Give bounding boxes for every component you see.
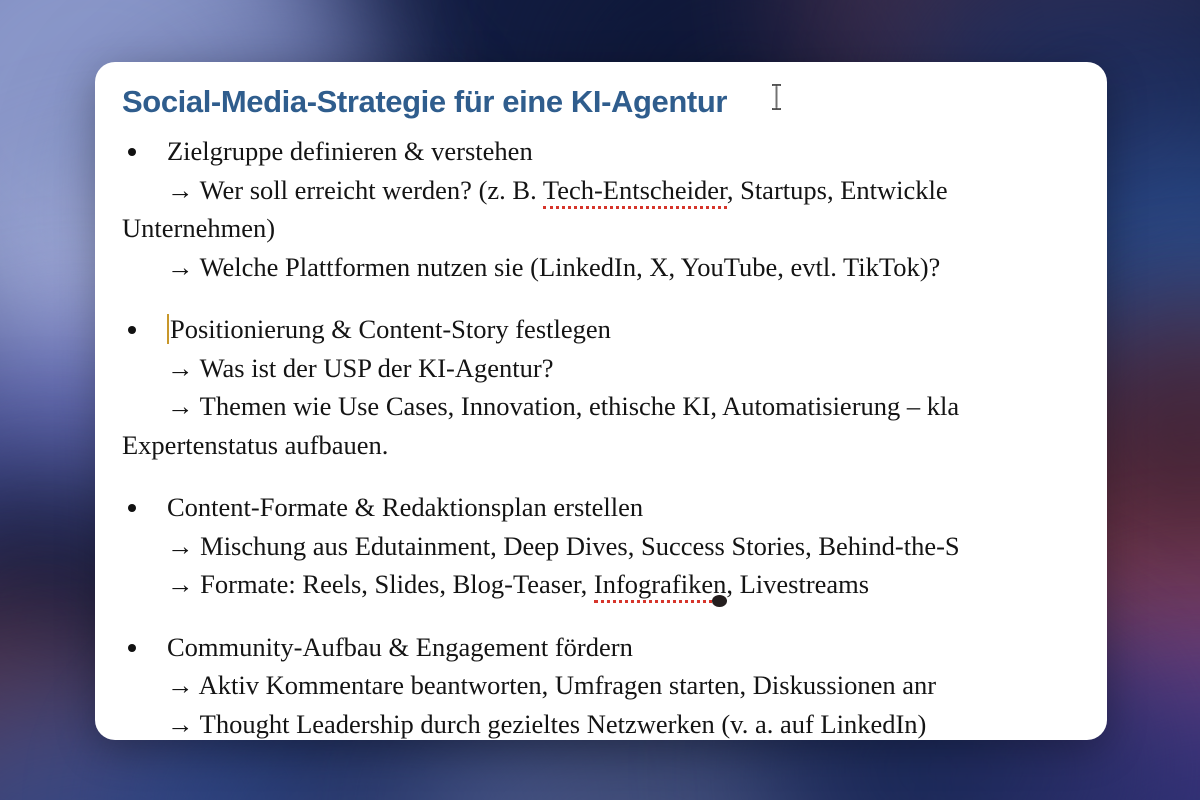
sub-line-text: , Livestreams bbox=[726, 569, 869, 599]
sub-line-text: → Mischung aus Edutainment, Deep Dives, … bbox=[167, 531, 960, 561]
misspelled-word[interactable]: Tech-Entscheider bbox=[543, 175, 727, 209]
sub-line-text: → Wer soll erreicht werden? (z. B. bbox=[167, 175, 543, 205]
bullet-heading-text: Positionierung & Content-Story festlegen bbox=[170, 314, 611, 344]
bullet-heading: Content-Formate & Redaktionsplan erstell… bbox=[167, 488, 1107, 527]
bullet-sub-line: → Themen wie Use Cases, Innovation, ethi… bbox=[167, 387, 1107, 426]
sub-line-text: , Startups, Entwickle bbox=[727, 175, 948, 205]
sub-line-text: → Formate: Reels, Slides, Blog-Teaser, bbox=[167, 569, 594, 599]
bullet-heading-text: Community-Aufbau & Engagement fördern bbox=[167, 632, 633, 662]
bullet-sub-line: → Welche Plattformen nutzen sie (LinkedI… bbox=[167, 248, 1107, 287]
bullet-item[interactable]: Positionierung & Content-Story festlegen… bbox=[122, 310, 1107, 464]
sub-line-text: → Aktiv Kommentare beantworten, Umfragen… bbox=[167, 670, 936, 700]
bullet-sub-line: → Aktiv Kommentare beantworten, Umfragen… bbox=[167, 666, 1107, 705]
sub-line-text: Unternehmen) bbox=[122, 213, 275, 243]
bullet-heading: Positionierung & Content-Story festlegen bbox=[167, 310, 1107, 349]
bullet-sub-line: Unternehmen) bbox=[122, 209, 1107, 248]
bullet-item[interactable]: Content-Formate & Redaktionsplan erstell… bbox=[122, 488, 1107, 604]
bullet-sub-line: → Thought Leadership durch gezieltes Net… bbox=[167, 705, 1107, 741]
sub-line-text: Expertenstatus aufbauen. bbox=[122, 430, 388, 460]
slide-title: Social-Media-Strategie für eine KI-Agent… bbox=[122, 84, 1107, 120]
bullet-item[interactable]: Community-Aufbau & Engagement fördern→ A… bbox=[122, 628, 1107, 741]
bullet-sub-line: → Formate: Reels, Slides, Blog-Teaser, I… bbox=[167, 565, 1107, 604]
sub-line-text: → Welche Plattformen nutzen sie (LinkedI… bbox=[167, 252, 940, 282]
slide-card[interactable]: Social-Media-Strategie für eine KI-Agent… bbox=[95, 62, 1107, 740]
bullet-sub-line: → Wer soll erreicht werden? (z. B. Tech-… bbox=[167, 171, 1107, 210]
bullet-heading-text: Zielgruppe definieren & verstehen bbox=[167, 136, 533, 166]
bullet-sub-line: Expertenstatus aufbauen. bbox=[122, 426, 1107, 465]
sub-line-text: → Thought Leadership durch gezieltes Net… bbox=[167, 709, 926, 739]
misspelled-word[interactable]: Infografiken bbox=[594, 569, 726, 603]
bullet-heading: Zielgruppe definieren & verstehen bbox=[167, 132, 1107, 171]
bullet-heading: Community-Aufbau & Engagement fördern bbox=[167, 628, 1107, 667]
sub-line-text: → Was ist der USP der KI-Agentur? bbox=[167, 353, 553, 383]
slide-content-area[interactable]: Social-Media-Strategie für eine KI-Agent… bbox=[95, 62, 1107, 740]
bullet-sub-line: → Was ist der USP der KI-Agentur? bbox=[167, 349, 1107, 388]
bullet-sub-line: → Mischung aus Edutainment, Deep Dives, … bbox=[167, 527, 1107, 566]
bullet-list: Zielgruppe definieren & verstehen→ Wer s… bbox=[122, 132, 1107, 740]
bullet-item[interactable]: Zielgruppe definieren & verstehen→ Wer s… bbox=[122, 132, 1107, 286]
sub-line-text: → Themen wie Use Cases, Innovation, ethi… bbox=[167, 391, 959, 421]
bullet-heading-text: Content-Formate & Redaktionsplan erstell… bbox=[167, 492, 643, 522]
text-caret bbox=[167, 314, 169, 344]
